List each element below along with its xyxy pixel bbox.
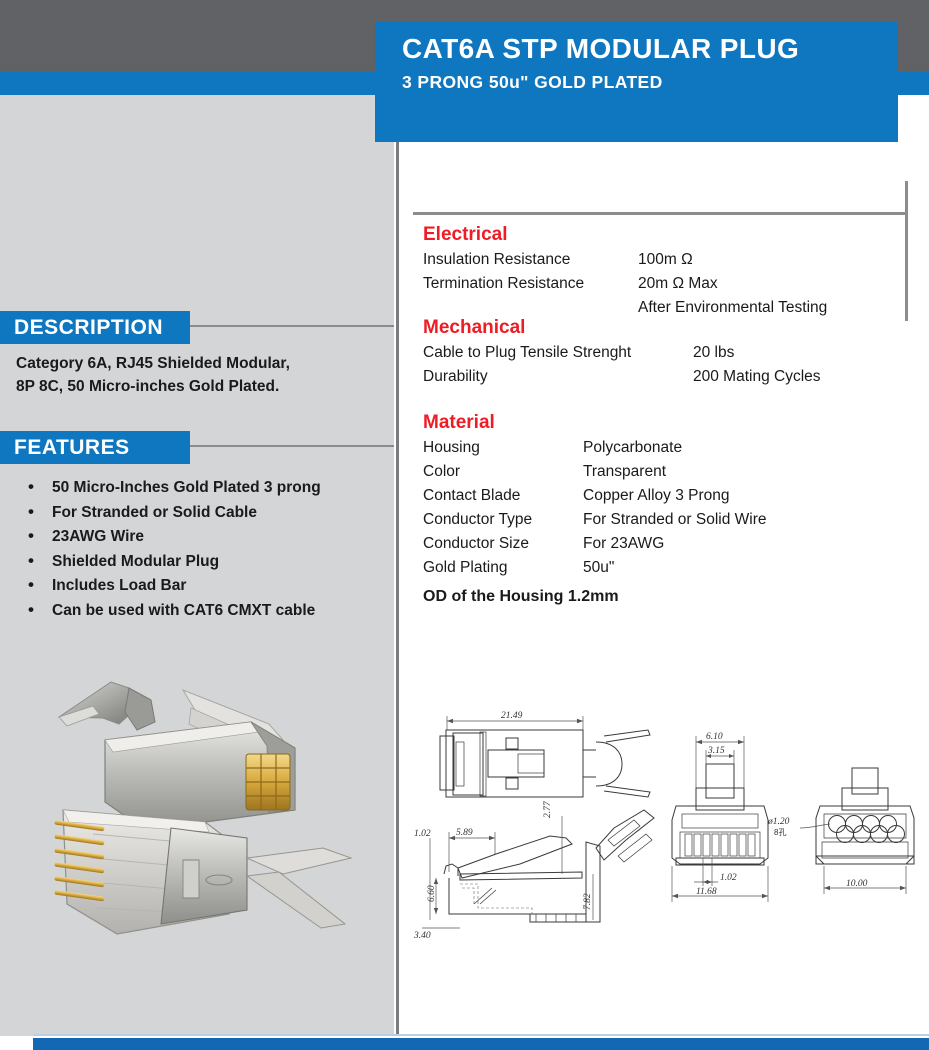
dim-top-width: 21.49 [501, 711, 523, 721]
dim-side-4: 6.60 [427, 885, 437, 902]
spec-value: Polycarbonate [583, 436, 682, 460]
spec-top-rule [413, 212, 908, 215]
spec-group-electrical: Electrical Insulation Resistance 100m Ω … [423, 222, 903, 320]
product-subtitle: 3 PRONG 50u" GOLD PLATED [402, 70, 898, 94]
spec-row: Contact Blade Copper Alloy 3 Prong [423, 484, 903, 508]
list-item: Can be used with CAT6 CMXT cable [14, 599, 394, 624]
features-header-rule [190, 445, 394, 447]
spec-row: Insulation Resistance 100m Ω [423, 248, 903, 272]
spec-value: 200 Mating Cycles [693, 365, 821, 389]
dim-side-5: 3.40 [413, 931, 431, 941]
spec-value: Copper Alloy 3 Prong [583, 484, 729, 508]
spec-key: Gold Plating [423, 556, 507, 580]
spec-key: Termination Resistance [423, 272, 584, 296]
dim-front-pitch: 1.02 [720, 873, 737, 883]
spec-value: Transparent [583, 460, 666, 484]
description-line-2: 8P 8C, 50 Micro-inches Gold Plated. [16, 375, 386, 398]
spec-key: Conductor Size [423, 532, 529, 556]
dim-side-3: 2.77 [543, 800, 553, 818]
list-item: Includes Load Bar [14, 574, 394, 599]
spec-row: Color Transparent [423, 460, 903, 484]
dim-hole-note: 8孔 [774, 828, 786, 837]
dim-side-2: 5.89 [456, 828, 473, 838]
spec-heading-mechanical: Mechanical [423, 315, 903, 340]
spec-row: Termination Resistance 20m Ω Max [423, 272, 903, 296]
description-header-rule [190, 325, 394, 327]
spec-row: Conductor Size For 23AWG [423, 532, 903, 556]
spec-key: Insulation Resistance [423, 248, 570, 272]
product-photo [33, 662, 363, 952]
spec-value: For 23AWG [583, 532, 664, 556]
dim-front-outer: 6.10 [706, 732, 723, 742]
list-item: For Stranded or Solid Cable [14, 501, 394, 526]
spec-row: Housing Polycarbonate [423, 436, 903, 460]
dim-front-inner: 3.15 [707, 746, 725, 756]
spec-key: Housing [423, 436, 480, 460]
product-photo-illustration [33, 662, 363, 952]
spec-key: Contact Blade [423, 484, 520, 508]
product-title: CAT6A STP MODULAR PLUG [402, 32, 898, 66]
spec-heading-electrical: Electrical [423, 222, 903, 247]
description-header: DESCRIPTION [0, 311, 190, 344]
spec-group-material: Material Housing Polycarbonate Color Tra… [423, 410, 903, 580]
spec-group-mechanical: Mechanical Cable to Plug Tensile Strengh… [423, 315, 903, 389]
features-list: 50 Micro-Inches Gold Plated 3 prong For … [14, 476, 394, 623]
spec-key: Cable to Plug Tensile Strenght [423, 341, 631, 365]
spec-heading-material: Material [423, 410, 903, 435]
list-item: 50 Micro-Inches Gold Plated 3 prong [14, 476, 394, 501]
technical-drawings-svg: .ln{fill:none;stroke:#3a3a3a;stroke-widt… [400, 688, 929, 948]
spec-key: Durability [423, 365, 488, 389]
spec-row: Durability 200 Mating Cycles [423, 365, 903, 389]
dim-side-6: 7.82 [583, 893, 593, 910]
list-item: 23AWG Wire [14, 525, 394, 550]
spec-value: 20 lbs [693, 341, 734, 365]
spec-key: Conductor Type [423, 508, 532, 532]
bottom-blue-bar [33, 1038, 929, 1050]
title-block: CAT6A STP MODULAR PLUG 3 PRONG 50u" GOLD… [375, 22, 898, 142]
spec-row: Conductor Type For Stranded or Solid Wir… [423, 508, 903, 532]
list-item: Shielded Modular Plug [14, 550, 394, 575]
spec-row: Cable to Plug Tensile Strenght 20 lbs [423, 341, 903, 365]
dim-hole-diameter: ø1.20 [767, 817, 790, 827]
spec-row: Gold Plating 50u" [423, 556, 903, 580]
spec-value: For Stranded or Solid Wire [583, 508, 767, 532]
bottom-hairline [33, 1034, 929, 1036]
dim-rear-width: 10.00 [846, 879, 868, 889]
description-line-1: Category 6A, RJ45 Shielded Modular, [16, 352, 386, 375]
spec-value: 50u" [583, 556, 614, 580]
spec-right-rule [905, 181, 908, 321]
spec-key: Color [423, 460, 460, 484]
spec-sheet: CAT6A STP MODULAR PLUG 3 PRONG 50u" GOLD… [0, 0, 929, 1050]
dim-side-1: 1.02 [414, 829, 431, 839]
od-housing-note: OD of the Housing 1.2mm [423, 588, 619, 606]
vertical-divider [396, 95, 399, 1036]
features-header: FEATURES [0, 431, 190, 464]
spec-value: 20m Ω Max [638, 272, 718, 296]
technical-drawings: .ln{fill:none;stroke:#3a3a3a;stroke-widt… [400, 688, 929, 948]
description-body: Category 6A, RJ45 Shielded Modular, 8P 8… [16, 352, 386, 398]
dim-front-width: 11.68 [696, 887, 717, 897]
spec-value: 100m Ω [638, 248, 693, 272]
